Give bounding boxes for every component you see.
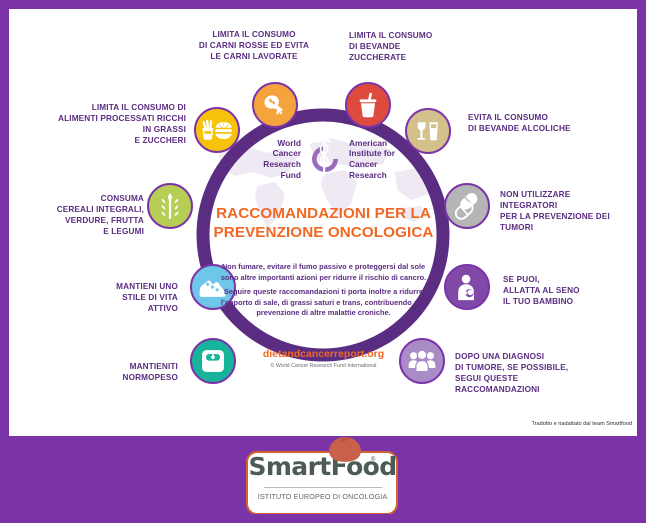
wheat-grain-icon xyxy=(157,191,183,221)
label-carni-rosse: LIMITA IL CONSUMO DI CARNI ROSSE ED EVIT… xyxy=(178,30,330,63)
ham-meat-icon xyxy=(261,91,289,119)
label-bevande-alcoliche: EVITA IL CONSUMO DI BEVANDE ALCOLICHE xyxy=(468,113,628,135)
bubble-bevande-alcoliche[interactable] xyxy=(405,108,451,154)
bubble-alimenti-processati[interactable] xyxy=(194,107,240,153)
alcohol-glasses-icon xyxy=(414,117,442,145)
soda-cup-icon xyxy=(355,91,381,119)
label-stile-vita-attivo: MANTIENI UNO STILE DI VITA ATTIVO xyxy=(30,282,178,315)
website-url[interactable]: dietandcancerreport.org xyxy=(202,348,445,360)
label-bevande-zuccherate: LIMITA IL CONSUMO DI BEVANDE ZUCCHERATE xyxy=(349,31,499,64)
bubble-diagnosi-tumore[interactable] xyxy=(399,338,445,384)
bubble-normopeso[interactable] xyxy=(190,338,236,384)
label-alimenti-processati: LIMITA IL CONSUMO DI ALIMENTI PROCESSATI… xyxy=(10,103,186,147)
attribution-note: Tradotto e riadattato dal team Smartfood xyxy=(531,421,632,427)
bubble-bevande-zuccherate[interactable] xyxy=(345,82,391,128)
copyright-notice: © World Cancer Research Fund Internation… xyxy=(202,363,445,369)
label-integratori: NON UTILIZZARE INTEGRATORI PER LA PREVEN… xyxy=(500,190,640,234)
breastfeeding-icon xyxy=(452,272,482,302)
center-paragraph-1: Non fumare, evitare il fumo passivo e pr… xyxy=(202,262,445,283)
label-diagnosi-tumore: DOPO UNA DIAGNOSI DI TUMORE, SE POSSIBIL… xyxy=(455,352,633,396)
smartfood-logo: SmartFood ® ISTITUTO EUROPEO DI ONCOLOGI… xyxy=(240,433,405,519)
center-paragraph-2: Seguire queste raccomandazioni ti porta … xyxy=(202,287,445,319)
infographic-poster: LIMITA IL CONSUMO DI CARNI ROSSE ED EVIT… xyxy=(0,0,646,523)
pills-capsules-icon xyxy=(452,191,482,221)
bubble-cereali-integrali[interactable] xyxy=(147,183,193,229)
wcrf-logo-left-text: World Cancer Research Fund xyxy=(245,138,301,181)
fastfood-burger-fries-icon xyxy=(201,117,233,143)
wcrf-aicr-logo: World Cancer Research Fund American Inst… xyxy=(243,131,411,187)
smartfood-subtitle: ISTITUTO EUROPEO DI ONCOLOGIA xyxy=(240,492,405,501)
caduceus-icon xyxy=(305,136,345,182)
bubble-allattamento[interactable] xyxy=(444,264,490,310)
bubble-carni-rosse[interactable] xyxy=(252,82,298,128)
aicr-logo-right-text: American Institute for Cancer Research xyxy=(349,138,409,181)
smartfood-divider xyxy=(264,487,382,488)
label-allattamento: SE PUOI, ALLATTA AL SENO IL TUO BAMBINO xyxy=(503,275,639,308)
label-normopeso: MANTIENITI NORMOPESO xyxy=(36,362,178,384)
label-cereali-integrali: CONSUMA CEREALI INTEGRALI, VERDURE, FRUT… xyxy=(16,194,144,238)
tomato-icon xyxy=(318,433,372,473)
page-title: RACCOMANDAZIONI PER LA PREVENZIONE ONCOL… xyxy=(196,205,451,243)
